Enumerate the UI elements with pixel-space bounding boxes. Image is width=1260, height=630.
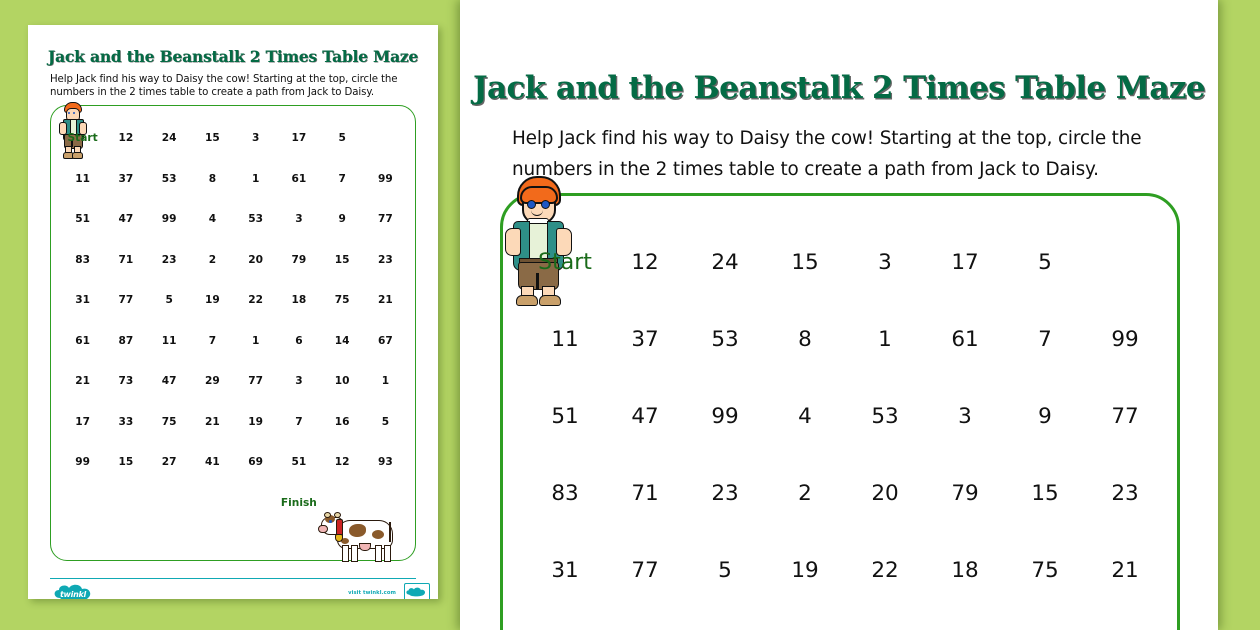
maze-cell[interactable]: 53	[162, 173, 177, 185]
maze-cell[interactable]: 79	[292, 254, 307, 266]
maze-cell[interactable]: 2	[798, 481, 812, 506]
maze-cell[interactable]: 77	[1111, 404, 1138, 429]
maze-cell[interactable]: 6	[295, 335, 302, 347]
maze-cell[interactable]: 77	[248, 375, 263, 387]
maze-cell[interactable]: 9	[1038, 404, 1052, 429]
maze-cell[interactable]: 5	[382, 416, 389, 428]
maze-cell[interactable]: 24	[711, 250, 738, 275]
maze-cell[interactable]: 18	[951, 558, 978, 583]
maze-cell[interactable]: 10	[335, 375, 350, 387]
thumbnail-footer-divider	[50, 578, 416, 579]
worksheet-preview-stage: Jack and the Beanstalk 2 Times Table Maz…	[0, 0, 1260, 630]
maze-cell[interactable]: 93	[378, 456, 393, 468]
maze-cell[interactable]: 51	[551, 404, 578, 429]
maze-cell[interactable]: 75	[1031, 558, 1058, 583]
maze-cell[interactable]: 83	[75, 254, 90, 266]
instructions-text: Help Jack find his way to Daisy the cow!…	[512, 123, 1172, 185]
maze-cell[interactable]: 53	[871, 404, 898, 429]
maze-cell[interactable]: 61	[292, 173, 307, 185]
maze-cell[interactable]: 19	[248, 416, 263, 428]
maze-cell[interactable]: 8	[209, 173, 216, 185]
twinkl-badge-icon	[404, 583, 430, 599]
maze-cell[interactable]: 5	[165, 294, 172, 306]
maze-cell[interactable]: 99	[1111, 327, 1138, 352]
maze-cell[interactable]: 47	[631, 404, 658, 429]
maze-cell[interactable]: 47	[119, 213, 134, 225]
twinkl-badge-cloud-shape	[405, 587, 427, 598]
maze-cell[interactable]: 77	[119, 294, 134, 306]
maze-cell[interactable]: 47	[162, 375, 177, 387]
maze-cell[interactable]: 12	[335, 456, 350, 468]
maze-cell[interactable]: 3	[958, 404, 972, 429]
worksheet-main-preview[interactable]: Jack and the Beanstalk 2 Times Table Maz…	[460, 0, 1218, 630]
maze-cell[interactable]: 99	[378, 173, 393, 185]
maze-grid: Start12241531751137538161799514799453397…	[525, 224, 1165, 609]
maze-cell[interactable]: 14	[335, 335, 350, 347]
maze-cell[interactable]: 22	[248, 294, 263, 306]
maze-cell[interactable]: 15	[791, 250, 818, 275]
maze-cell[interactable]: 3	[878, 250, 892, 275]
maze-cell[interactable]: 1	[252, 335, 259, 347]
maze-cell[interactable]: 69	[248, 456, 263, 468]
maze-cell[interactable]: 99	[711, 404, 738, 429]
maze-cell[interactable]: 20	[871, 481, 898, 506]
maze-cell[interactable]: 19	[205, 294, 220, 306]
page-title: Jack and the Beanstalk 2 Times Table Maz…	[460, 70, 1218, 106]
maze-cell[interactable]: 51	[292, 456, 307, 468]
maze-cell[interactable]: 3	[252, 132, 259, 144]
twinkl-logo-text: twinkl	[52, 584, 94, 599]
maze-cell[interactable]: 71	[119, 254, 134, 266]
maze-cell[interactable]: 67	[378, 335, 393, 347]
maze-cell[interactable]: 3	[295, 375, 302, 387]
maze-cell[interactable]: 21	[75, 375, 90, 387]
maze-cell[interactable]: 37	[631, 327, 658, 352]
maze-cell[interactable]: 83	[551, 481, 578, 506]
maze-cell[interactable]: 5	[1038, 250, 1052, 275]
maze-cell[interactable]: 31	[75, 294, 90, 306]
maze-start-label[interactable]: Start	[68, 132, 98, 144]
maze-cell[interactable]: 21	[205, 416, 220, 428]
maze-cell[interactable]: 27	[162, 456, 177, 468]
maze-cell[interactable]: 75	[335, 294, 350, 306]
maze-cell[interactable]: 61	[951, 327, 978, 352]
maze-cell[interactable]: 4	[209, 213, 216, 225]
maze-cell[interactable]: 16	[335, 416, 350, 428]
maze-cell[interactable]: 75	[162, 416, 177, 428]
maze-cell[interactable]: 7	[338, 173, 345, 185]
maze-cell[interactable]: 15	[335, 254, 350, 266]
maze-cell[interactable]: 1	[878, 327, 892, 352]
worksheet-thumbnail-card[interactable]: Jack and the Beanstalk 2 Times Table Maz…	[28, 25, 438, 599]
maze-cell[interactable]: 73	[119, 375, 134, 387]
maze-cell[interactable]: 22	[871, 558, 898, 583]
maze-cell[interactable]: 23	[1111, 481, 1138, 506]
maze-cell[interactable]: 5	[718, 558, 732, 583]
maze-cell[interactable]: 29	[205, 375, 220, 387]
thumbnail-page-title: Jack and the Beanstalk 2 Times Table Maz…	[28, 47, 438, 66]
maze-cell[interactable]: 1	[382, 375, 389, 387]
maze-cell[interactable]: 77	[378, 213, 393, 225]
thumbnail-instructions: Help Jack find his way to Daisy the cow!…	[50, 73, 418, 99]
maze-cell[interactable]: 8	[798, 327, 812, 352]
maze-cell[interactable]: 20	[248, 254, 263, 266]
maze-cell[interactable]: 51	[75, 213, 90, 225]
maze-cell[interactable]: 3	[295, 213, 302, 225]
maze-cell[interactable]: 23	[711, 481, 738, 506]
maze-cell[interactable]: 61	[75, 335, 90, 347]
maze-cell[interactable]: 87	[119, 335, 134, 347]
maze-cell[interactable]: 41	[205, 456, 220, 468]
maze-cell[interactable]: 19	[791, 558, 818, 583]
maze-cell[interactable]: 5	[338, 132, 345, 144]
maze-border: Start12241531751137538161799514799453397…	[500, 193, 1180, 630]
maze-cell[interactable]: 99	[162, 213, 177, 225]
maze-cell[interactable]: 24	[162, 132, 177, 144]
maze-cell[interactable]: 53	[248, 213, 263, 225]
maze-cell[interactable]: 15	[119, 456, 134, 468]
maze-cell[interactable]: 15	[205, 132, 220, 144]
maze-cell[interactable]: 17	[951, 250, 978, 275]
maze-cell[interactable]: 2	[209, 254, 216, 266]
maze-cell[interactable]: 23	[378, 254, 393, 266]
twinkl-logo[interactable]: twinkl	[52, 584, 94, 599]
maze-cell[interactable]: 53	[711, 327, 738, 352]
maze-cell[interactable]: 7	[1038, 327, 1052, 352]
maze-cell[interactable]: 11	[551, 327, 578, 352]
maze-cell[interactable]: 31	[551, 558, 578, 583]
maze-start-label[interactable]: Start	[538, 250, 592, 275]
maze-cell[interactable]: 21	[378, 294, 393, 306]
maze-cell[interactable]: 23	[162, 254, 177, 266]
maze-cell[interactable]: 1	[252, 173, 259, 185]
maze-cell[interactable]: 77	[631, 558, 658, 583]
maze-cell[interactable]: 37	[119, 173, 134, 185]
maze-cell[interactable]: 17	[75, 416, 90, 428]
maze-finish-label[interactable]: Finish	[281, 497, 317, 509]
maze-cell[interactable]: 21	[1111, 558, 1138, 583]
maze-cell[interactable]: 7	[295, 416, 302, 428]
visit-twinkl-text[interactable]: visit twinkl.com	[348, 590, 396, 596]
maze-cell[interactable]: 7	[209, 335, 216, 347]
maze-cell[interactable]: 12	[631, 250, 658, 275]
maze-cell[interactable]: 12	[119, 132, 134, 144]
maze-cell[interactable]: 79	[951, 481, 978, 506]
thumbnail-maze-border: Start12241531751137538161799514799453397…	[50, 105, 416, 561]
maze-cell[interactable]: 11	[75, 173, 90, 185]
maze-cell[interactable]: 15	[1031, 481, 1058, 506]
maze-cell[interactable]: 33	[119, 416, 134, 428]
maze-cell[interactable]: 9	[338, 213, 345, 225]
maze-cell[interactable]: 17	[292, 132, 307, 144]
maze-cell[interactable]: 99	[75, 456, 90, 468]
thumbnail-maze-grid: Start12241531751137538161799514799453397…	[61, 118, 407, 523]
maze-cell[interactable]: 4	[798, 404, 812, 429]
maze-cell[interactable]: 71	[631, 481, 658, 506]
maze-cell[interactable]: 11	[162, 335, 177, 347]
maze-cell[interactable]: 18	[292, 294, 307, 306]
